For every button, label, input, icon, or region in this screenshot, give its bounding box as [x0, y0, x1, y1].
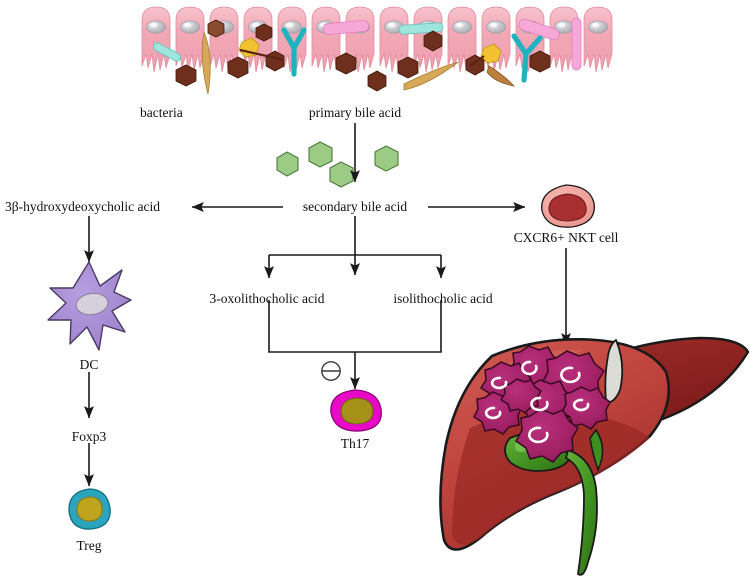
intestinal-epithelium-icon	[142, 7, 612, 94]
inhibition-icon	[322, 362, 340, 380]
label-oxolithocholic-acid: 3-oxolithocholic acid	[209, 292, 324, 306]
label-nkt-cell: CXCR6+ NKT cell	[514, 231, 619, 245]
diagram-svg	[0, 0, 755, 582]
treg-cell-icon	[69, 489, 110, 529]
diagram-canvas: bacteria primary bile acid 3β-hydroxydeo…	[0, 0, 755, 582]
label-hydroxydeoxycholic-acid: 3β-hydroxydeoxycholic acid	[5, 200, 160, 214]
label-dc: DC	[80, 358, 99, 372]
label-bacteria: bacteria	[140, 106, 183, 120]
liver-organ-icon	[440, 338, 748, 575]
label-isolithocholic-acid: isolithocholic acid	[393, 292, 492, 306]
label-treg: Treg	[76, 539, 101, 553]
label-foxp3: Foxp3	[72, 430, 107, 444]
green-hexagon-icon	[277, 142, 398, 187]
dendritic-cell-icon	[48, 262, 131, 350]
label-secondary-bile-acid: secondary bile acid	[303, 200, 407, 214]
th17-cell-icon	[331, 390, 381, 431]
label-th17: Th17	[341, 437, 370, 451]
bracket-join	[269, 300, 441, 352]
label-primary-bile-acid: primary bile acid	[309, 106, 401, 120]
nkt-cell-icon	[542, 185, 595, 227]
